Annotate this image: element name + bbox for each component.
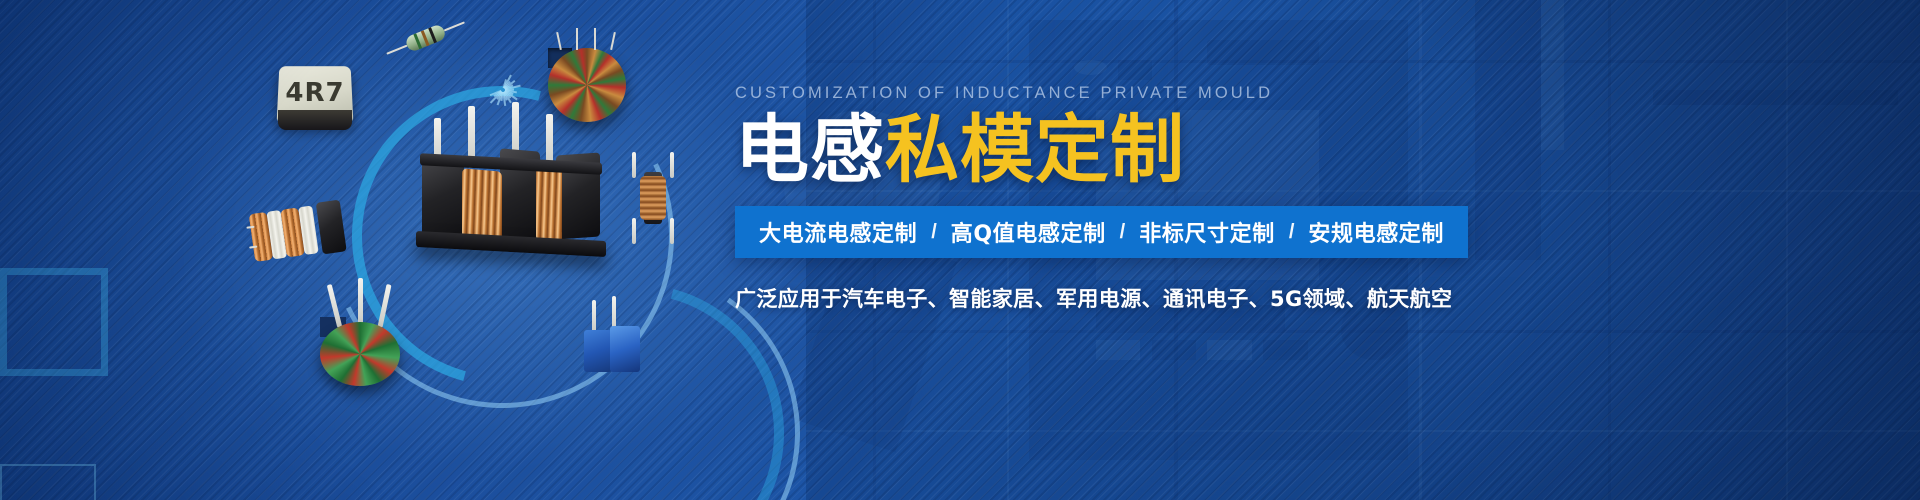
banner-copy-block: CUSTOMIZATION OF INDUCTANCE PRIVATE MOUL… [735, 84, 1895, 313]
headline-white-part: 电感 [735, 107, 885, 193]
page-title: 电感私模定制 [735, 113, 1895, 188]
headline-gold-part: 私模定制 [885, 107, 1185, 193]
eyebrow-english-subtitle: CUSTOMIZATION OF INDUCTANCE PRIVATE MOUL… [735, 84, 1895, 103]
hero-banner: 4R7 [0, 0, 1920, 500]
feature-item-3[interactable]: 安规电感定制 [1308, 216, 1444, 248]
feature-item-2[interactable]: 非标尺寸定制 [1139, 216, 1275, 248]
application-tagline: 广泛应用于汽车电子、智能家居、军用电源、通讯电子、5G领域、航天航空 [735, 283, 1895, 313]
feature-separator-0: / [917, 221, 951, 244]
feature-list-bar: 大电流电感定制 / 高Q值电感定制 / 非标尺寸定制 / 安规电感定制 [735, 206, 1468, 258]
feature-separator-1: / [1106, 221, 1140, 244]
feature-separator-2: / [1275, 221, 1309, 244]
feature-item-0[interactable]: 大电流电感定制 [759, 216, 917, 248]
feature-item-1[interactable]: 高Q值电感定制 [951, 216, 1106, 248]
